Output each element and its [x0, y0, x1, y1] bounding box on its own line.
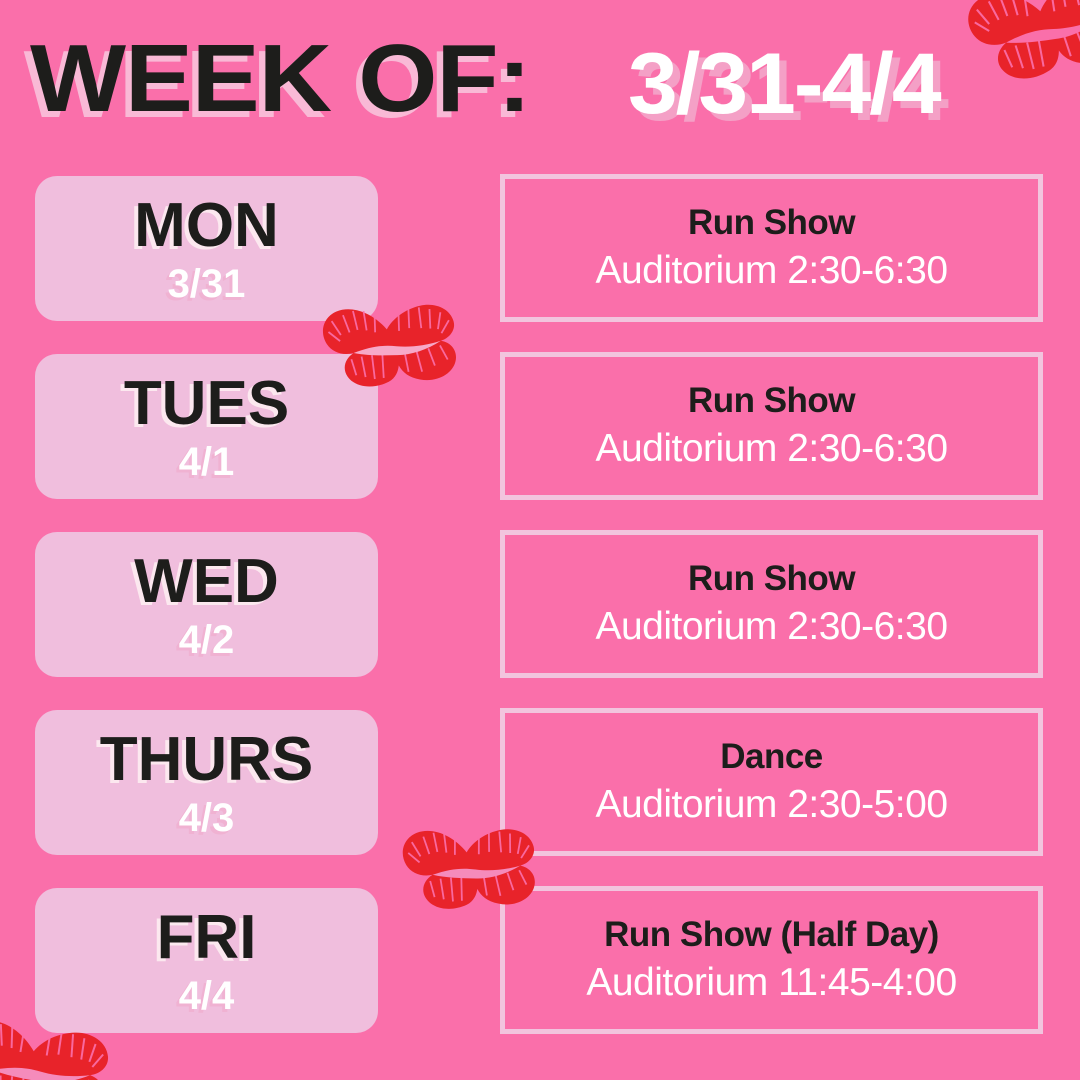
page-title: WEEK OF: — [30, 27, 530, 131]
event-title: Run Show — [688, 380, 855, 422]
day-box-fri[interactable]: FRI 4/4 — [35, 888, 378, 1033]
event-title: Run Show — [688, 202, 855, 244]
event-title: Run Show (Half Day) — [604, 914, 939, 956]
schedule-row: MON 3/31 Run Show Auditorium 2:30-6:30 — [0, 176, 1080, 321]
day-name: TUES — [124, 371, 289, 437]
day-name: FRI — [157, 905, 257, 971]
day-date: 4/1 — [179, 439, 235, 485]
day-box-tues[interactable]: TUES 4/1 — [35, 354, 378, 499]
event-detail: Auditorium 11:45-4:00 — [586, 960, 956, 1006]
schedule-row: FRI 4/4 Run Show (Half Day) Auditorium 1… — [0, 888, 1080, 1033]
event-box-wed[interactable]: Run Show Auditorium 2:30-6:30 — [500, 530, 1043, 678]
event-box-tues[interactable]: Run Show Auditorium 2:30-6:30 — [500, 352, 1043, 500]
event-box-fri[interactable]: Run Show (Half Day) Auditorium 11:45-4:0… — [500, 886, 1043, 1034]
event-detail: Auditorium 2:30-6:30 — [595, 426, 947, 472]
schedule-row: THURS 4/3 Dance Auditorium 2:30-5:00 — [0, 710, 1080, 855]
schedule-row: WED 4/2 Run Show Auditorium 2:30-6:30 — [0, 532, 1080, 677]
weekly-schedule-poster: WEEK OF: 3/31-4/4 MON 3/31 Run Show Audi… — [0, 0, 1080, 1080]
event-detail: Auditorium 2:30-6:30 — [595, 248, 947, 294]
day-name: WED — [134, 549, 279, 615]
event-title: Run Show — [688, 558, 855, 600]
event-detail: Auditorium 2:30-6:30 — [595, 604, 947, 650]
week-date-range: 3/31-4/4 — [628, 36, 940, 132]
day-box-wed[interactable]: WED 4/2 — [35, 532, 378, 677]
schedule-list: MON 3/31 Run Show Auditorium 2:30-6:30 T… — [0, 176, 1080, 1060]
event-box-mon[interactable]: Run Show Auditorium 2:30-6:30 — [500, 174, 1043, 322]
day-box-thurs[interactable]: THURS 4/3 — [35, 710, 378, 855]
day-name: MON — [134, 193, 279, 259]
event-box-thurs[interactable]: Dance Auditorium 2:30-5:00 — [500, 708, 1043, 856]
day-date: 3/31 — [168, 261, 246, 307]
poster-header: WEEK OF: 3/31-4/4 — [0, 0, 1080, 168]
day-box-mon[interactable]: MON 3/31 — [35, 176, 378, 321]
day-date: 4/3 — [179, 795, 235, 841]
day-date: 4/2 — [179, 617, 235, 663]
event-detail: Auditorium 2:30-5:00 — [595, 782, 947, 828]
day-name: THURS — [100, 727, 314, 793]
day-date: 4/4 — [179, 973, 235, 1019]
event-title: Dance — [720, 736, 823, 778]
schedule-row: TUES 4/1 Run Show Auditorium 2:30-6:30 — [0, 354, 1080, 499]
